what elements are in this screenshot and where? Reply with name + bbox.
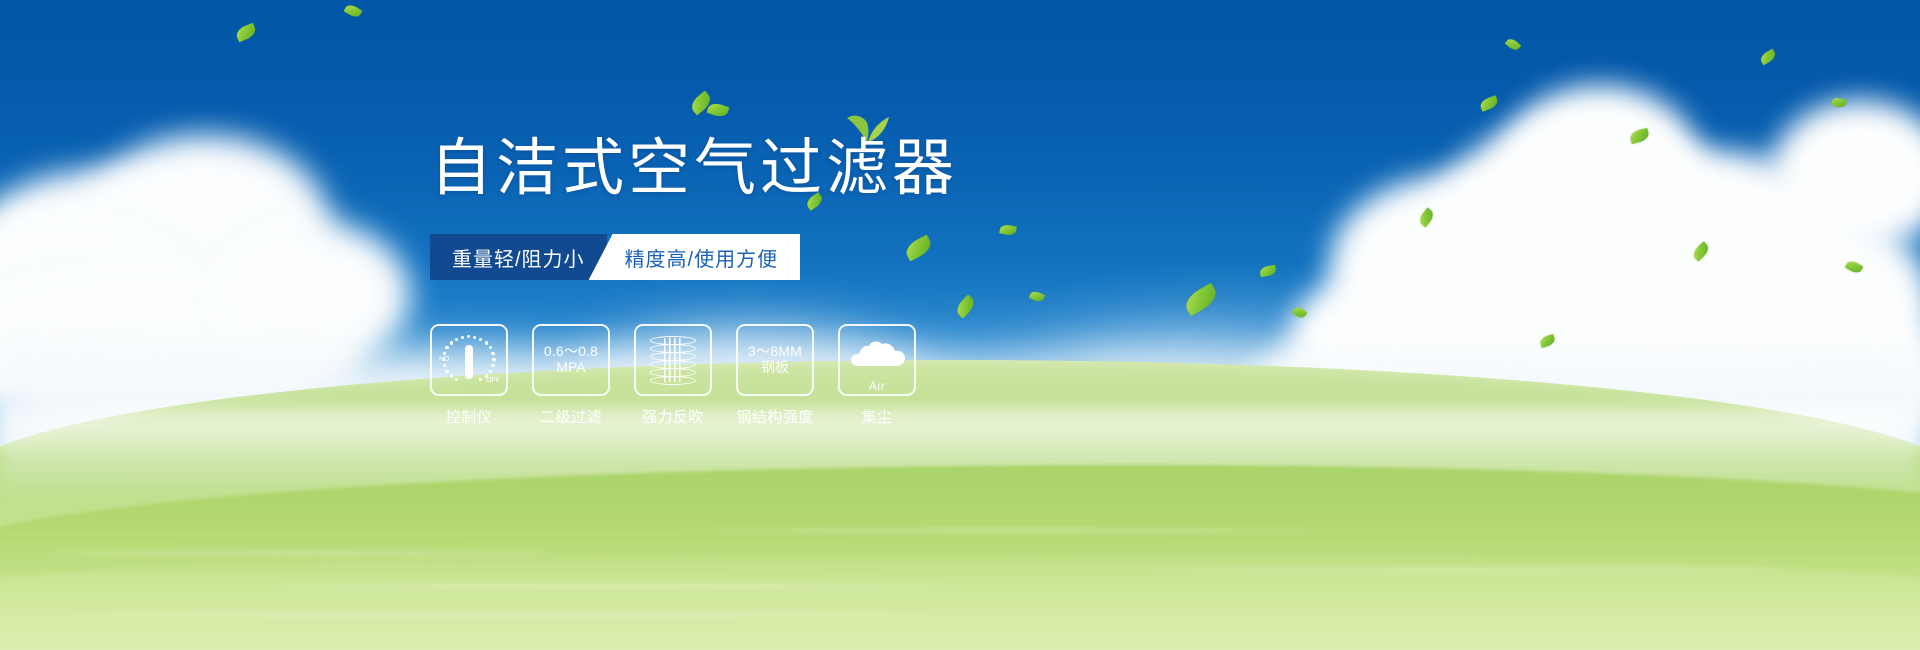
tagline-pill-2: 精度高/使用方便 [589, 234, 801, 280]
gauge-dial-icon: NO OFF [440, 333, 498, 387]
feature-label: 集尘 [861, 406, 892, 427]
feature-item-control-gauge[interactable]: NO OFF 控制仪 [430, 324, 508, 427]
feature-label: 二级过滤 [540, 406, 602, 427]
page-title: 自洁式空气过滤器 [430, 138, 958, 200]
product-banner: 自洁式空气过滤器 重量轻/阻力小 精度高/使用方便 [0, 0, 1920, 650]
air-label: Air [847, 379, 907, 393]
feature-icon-row: NO OFF 控制仪 0.6～0.8 MPA 二级过滤 [430, 324, 916, 427]
gauge-on-label: NO [439, 356, 450, 363]
feature-label: 控制仪 [446, 406, 493, 427]
steel-material-text: 钢板 [761, 360, 789, 376]
feature-box [634, 324, 712, 396]
tagline-group: 重量轻/阻力小 精度高/使用方便 [430, 234, 800, 280]
tagline-pill-1: 重量轻/阻力小 [430, 234, 607, 280]
feature-label: 钢结构强度 [736, 406, 814, 427]
steel-thickness-text: 3～8MM [748, 344, 802, 360]
feature-item-steel[interactable]: 3～8MM 钢板 钢结构强度 [736, 324, 814, 427]
feature-box: Air [838, 324, 916, 396]
gauge-off-label: OFF [486, 377, 500, 384]
air-cloud-icon: Air [847, 339, 907, 379]
feature-box: 0.6～0.8 MPA [532, 324, 610, 396]
feature-label: 强力反吹 [642, 406, 704, 427]
feature-item-pressure[interactable]: 0.6～0.8 MPA 二级过滤 [532, 324, 610, 427]
feature-box: NO OFF [430, 324, 508, 396]
feature-item-blowback[interactable]: 强力反吹 [634, 324, 712, 427]
feature-box: 3～8MM 钢板 [736, 324, 814, 396]
pressure-range-text: 0.6～0.8 [544, 344, 598, 360]
feature-item-dust[interactable]: Air 集尘 [838, 324, 916, 427]
filter-coil-icon [647, 334, 699, 386]
pressure-unit-text: MPA [556, 360, 585, 376]
